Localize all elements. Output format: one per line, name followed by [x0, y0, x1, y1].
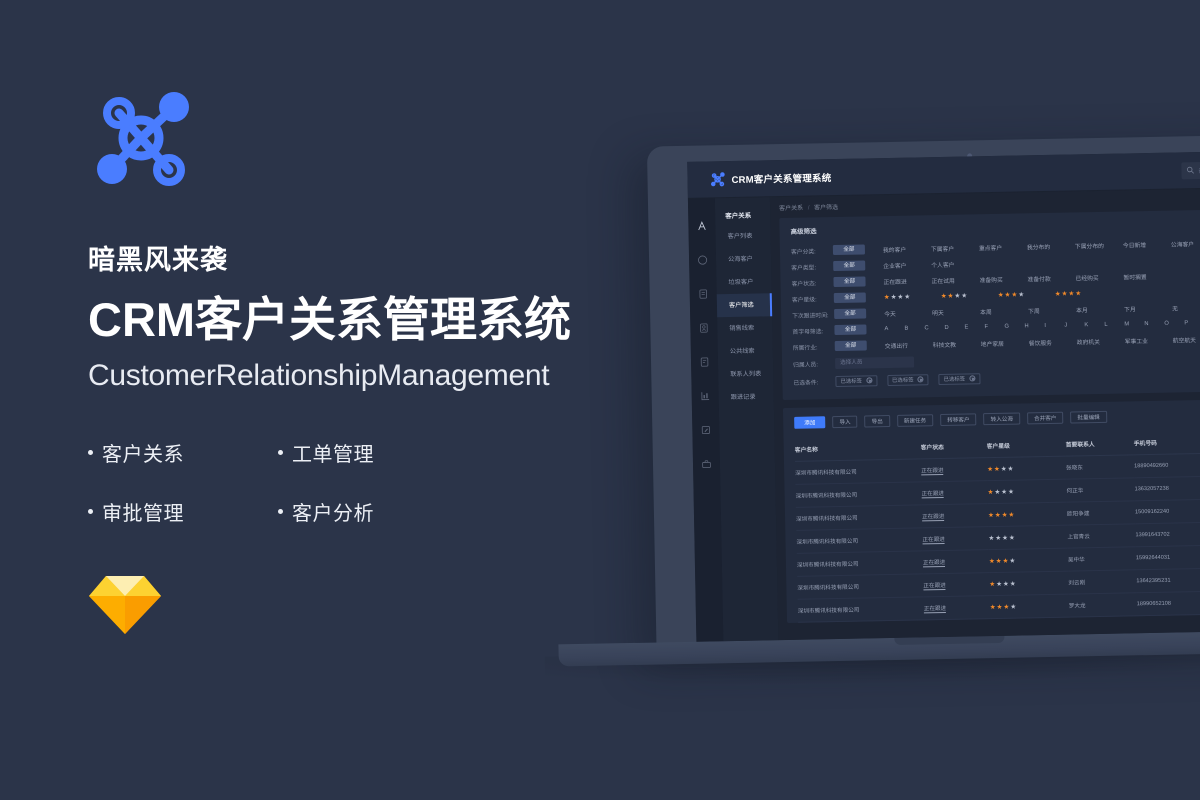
cell-customer-stars: ★★★★	[989, 548, 1068, 573]
filter-option[interactable]: 下属客户	[931, 243, 979, 253]
filter-label: 客户星级:	[792, 294, 834, 304]
chart-icon[interactable]	[700, 390, 711, 401]
document-icon[interactable]	[698, 288, 709, 299]
filter-option[interactable]: 无	[1172, 302, 1200, 312]
cell-contact: 上官青云	[1067, 524, 1135, 548]
customer-icon[interactable]	[698, 322, 709, 333]
filter-chip-all[interactable]: 全部	[834, 308, 866, 319]
filter-option[interactable]: 企业客户	[883, 260, 931, 270]
sidebar-item-public-pool[interactable]: 公海客户	[716, 247, 771, 271]
filter-label: 下次跟进时间:	[792, 310, 834, 320]
cell-phone: 18990652108	[1137, 591, 1200, 616]
add-button[interactable]: 添加	[794, 416, 825, 429]
network-nodes-icon	[709, 171, 725, 187]
cell-contact: 张晓东	[1066, 455, 1134, 479]
table-toolbar: 添加 导入 导出 新建任务 转移客户 转入公海 合并客户 批量编辑	[794, 407, 1200, 429]
filter-label: 首字母筛选:	[792, 326, 834, 336]
filter-option[interactable]: 下月	[1124, 303, 1172, 313]
filter-chip-all[interactable]: 全部	[834, 292, 866, 303]
advanced-filter-panel: 高级筛选 客户分类: 全部 我的客户 下属客户 重点客户 我分布的 下属分布的 …	[779, 208, 1200, 400]
app-brand[interactable]: CRM客户关系管理系统	[687, 169, 831, 188]
sidebar-menu: 客户关系 客户列表 公海客户 垃圾客户 客户筛选 销售线索 公共线索 联系人列表…	[715, 197, 778, 641]
alpha-option[interactable]: I	[1044, 323, 1064, 329]
close-circle-icon[interactable]	[918, 376, 924, 382]
customer-table-card: 添加 导入 导出 新建任务 转移客户 转入公海 合并客户 批量编辑	[783, 398, 1200, 623]
alpha-option[interactable]: B	[904, 325, 924, 331]
filter-panel-title: 高级筛选	[790, 216, 1200, 236]
feature-item: 客户关系	[88, 438, 278, 467]
filter-option[interactable]: 地产家居	[981, 338, 1029, 348]
alpha-option[interactable]: C	[924, 325, 944, 331]
alpha-option[interactable]: M	[1124, 321, 1144, 327]
export-button[interactable]: 导出	[865, 415, 890, 427]
cell-customer-stars: ★★★★	[989, 571, 1068, 596]
feature-label: 审批管理	[102, 497, 184, 526]
selected-tag[interactable]: 已选标签	[887, 374, 929, 386]
bullet-dot-icon	[278, 450, 283, 455]
cell-customer-state: 正在跟进	[922, 527, 988, 551]
alpha-option[interactable]: F	[984, 324, 1004, 330]
selected-tag-label: 已选标签	[892, 376, 914, 384]
filter-option[interactable]: 政府机关	[1077, 336, 1125, 346]
close-circle-icon[interactable]	[969, 375, 975, 381]
column-header-contact[interactable]: 首要联系人	[1065, 432, 1133, 456]
column-header-grade[interactable]: 客户星级	[987, 434, 1066, 458]
cell-contact: 欧阳争建	[1067, 501, 1135, 525]
filter-label: 客户分类:	[791, 246, 833, 256]
new-task-button[interactable]: 新建任务	[897, 414, 934, 427]
cell-customer-state: 正在跟进	[921, 458, 987, 482]
cell-phone: 13642395231	[1136, 568, 1200, 593]
filter-label: 客户状态:	[791, 278, 833, 288]
app-title: CRM客户关系管理系统	[731, 170, 831, 186]
edit-icon[interactable]	[700, 424, 711, 435]
alpha-option[interactable]: P	[1184, 320, 1200, 326]
cell-phone: 18890492660	[1134, 453, 1200, 478]
batch-edit-button[interactable]: 批量编辑	[1070, 411, 1107, 424]
network-nodes-icon	[88, 86, 194, 190]
breadcrumb-parent[interactable]: 客户关系	[779, 206, 803, 212]
filter-option[interactable]: 今日新增	[1123, 239, 1171, 249]
filter-option[interactable]: 航空航天	[1173, 334, 1200, 344]
breadcrumb: 客户关系 / 客户筛选	[779, 193, 1200, 212]
cell-customer-stars: ★★★★	[990, 594, 1069, 619]
cell-customer-state: 正在跟进	[923, 550, 989, 574]
filter-option[interactable]: 正在试用	[931, 275, 979, 285]
sidebar-item-public-leads[interactable]: 公共线索	[718, 339, 773, 363]
table-body: 深圳市腾讯科技有限公司 正在跟进 ★★★★ 张晓东 18890492660 20…	[795, 451, 1200, 622]
selected-tag-label: 已选标签	[943, 375, 965, 383]
alpha-option[interactable]: H	[1024, 323, 1044, 329]
cell-customer-stars: ★★★★	[987, 479, 1066, 504]
filter-option[interactable]: 本周	[980, 306, 1028, 316]
filter-option[interactable]: 准备付款	[1027, 273, 1075, 283]
cell-customer-state: 正在跟进	[924, 596, 990, 620]
cell-customer-stars: ★★★★	[987, 456, 1066, 481]
owner-select-input[interactable]: 选择人员	[835, 356, 914, 369]
filter-chip-all[interactable]: 全部	[834, 324, 866, 335]
cell-customer-name: 深圳市腾讯科技有限公司	[796, 528, 922, 553]
feature-label: 客户关系	[102, 438, 184, 467]
feature-item: 客户分析	[278, 497, 468, 526]
selected-tag[interactable]: 已选标签	[938, 373, 980, 385]
sketch-diamond-icon	[88, 572, 162, 636]
header-right: 请输入客户名称	[1181, 160, 1200, 179]
cell-customer-state: 正在跟进	[922, 504, 988, 528]
filter-star-group-3[interactable]: ★★★★	[998, 290, 1055, 299]
move-to-pool-button[interactable]: 转入公海	[983, 413, 1020, 426]
sidebar-item-customer-list[interactable]: 客户列表	[715, 224, 770, 248]
filter-option[interactable]: 暂时搁置	[1123, 271, 1171, 281]
filter-option[interactable]: 科技文教	[933, 339, 981, 349]
cell-customer-name: 深圳市腾讯科技有限公司	[798, 597, 924, 622]
feature-label: 工单管理	[292, 438, 374, 467]
filter-option[interactable]: 我的客户	[883, 244, 931, 254]
selected-tag[interactable]: 已选标签	[835, 375, 877, 387]
alpha-option[interactable]: J	[1064, 322, 1084, 328]
feature-item: 工单管理	[278, 438, 468, 467]
cell-customer-name: 深圳市腾讯科技有限公司	[795, 459, 921, 484]
filter-label: 客户类型:	[791, 262, 833, 272]
import-button[interactable]: 导入	[832, 416, 857, 428]
cell-customer-name: 深圳市腾讯科技有限公司	[795, 482, 921, 507]
alpha-option[interactable]: N	[1144, 321, 1164, 327]
filter-label: 已选条件:	[793, 377, 835, 387]
bullet-dot-icon	[88, 450, 93, 455]
filter-option[interactable]: 已经购买	[1075, 272, 1123, 282]
cell-customer-state: 正在跟进	[923, 573, 989, 597]
alpha-option[interactable]: O	[1164, 320, 1184, 326]
search-icon	[1186, 166, 1194, 174]
bullet-dot-icon	[88, 509, 93, 514]
filter-option[interactable]: 明天	[932, 307, 980, 317]
cell-contact: 何正华	[1066, 478, 1134, 502]
cell-customer-stars: ★★★★	[988, 502, 1067, 527]
sidebar-item-junk-customers[interactable]: 垃圾客户	[716, 270, 771, 294]
filter-chip-all[interactable]: 全部	[833, 244, 865, 255]
sidebar-title: 客户关系	[715, 207, 770, 225]
alpha-option[interactable]: L	[1104, 321, 1124, 327]
filter-option[interactable]: 今天	[884, 308, 932, 318]
filter-option[interactable]: 准备购买	[979, 274, 1027, 284]
cell-phone: 15992644031	[1136, 545, 1200, 570]
filter-option[interactable]: 正在跟进	[883, 276, 931, 286]
cell-contact: 刘云刚	[1068, 570, 1136, 594]
filter-label: 所属行业:	[793, 342, 835, 352]
filter-option[interactable]: 交通出行	[885, 340, 933, 350]
feature-label: 客户分析	[292, 497, 374, 526]
compass-icon[interactable]	[697, 254, 708, 265]
filter-chip-all[interactable]: 全部	[833, 276, 865, 287]
bullet-dot-icon	[278, 509, 283, 514]
customer-table: 客户名称 客户状态 客户星级 首要联系人 手机号码 最后跟进	[795, 429, 1200, 623]
breadcrumb-current: 客户筛选	[814, 205, 838, 211]
app-body: 客户关系 客户列表 公海客户 垃圾客户 客户筛选 销售线索 公共线索 联系人列表…	[688, 187, 1200, 641]
cell-phone: 13991643702	[1135, 522, 1200, 547]
column-header-state[interactable]: 客户状态	[921, 435, 987, 459]
filter-star-group-4[interactable]: ★★★★	[1055, 289, 1112, 298]
cell-customer-name: 深圳市腾讯科技有限公司	[797, 574, 923, 599]
alpha-option[interactable]: E	[964, 324, 984, 330]
filter-option[interactable]: 下属分布的	[1075, 240, 1123, 250]
breadcrumb-separator: /	[808, 206, 810, 212]
filter-star-group-2[interactable]: ★★★★	[941, 291, 998, 300]
cell-customer-name: 深圳市腾讯科技有限公司	[797, 551, 923, 576]
briefcase-icon[interactable]	[701, 458, 712, 469]
filter-option[interactable]: 重点客户	[979, 242, 1027, 252]
filter-label: 归属人员:	[793, 359, 835, 369]
filter-chip-all[interactable]: 全部	[833, 260, 865, 271]
cell-contact: 罗大龙	[1069, 593, 1137, 617]
alpha-option[interactable]: D	[944, 325, 964, 331]
filter-option[interactable]: 餐饮服务	[1029, 337, 1077, 347]
filter-option[interactable]: 我分布的	[1027, 241, 1075, 251]
cell-contact: 吴中华	[1068, 547, 1136, 571]
cell-phone: 13632057238	[1134, 476, 1200, 501]
cell-customer-state: 正在跟进	[921, 481, 987, 505]
filter-option[interactable]: 公海客户	[1171, 238, 1200, 248]
search-input[interactable]: 请输入客户名称	[1181, 160, 1200, 179]
selected-tag-label: 已选标签	[840, 377, 862, 385]
sidebar-item-follow-records[interactable]: 跟进记录	[719, 385, 774, 409]
column-header-phone[interactable]: 手机号码	[1133, 431, 1200, 455]
laptop-mockup: CRM客户关系管理系统 请输入客户名称	[534, 103, 1200, 716]
filter-option[interactable]: 军事工业	[1125, 335, 1173, 345]
alpha-option[interactable]: G	[1004, 323, 1024, 329]
filter-option[interactable]: 个人客户	[931, 259, 979, 269]
sidebar-item-customer-filter[interactable]: 客户筛选	[717, 293, 772, 317]
cell-customer-stars: ★★★★	[988, 525, 1067, 550]
sidebar-item-sales-leads[interactable]: 销售线索	[717, 316, 772, 340]
sidebar-item-contact-list[interactable]: 联系人列表	[718, 362, 773, 386]
poster-canvas: 暗黑风来袭 CRM客户关系管理系统 CustomerRelationshipMa…	[0, 0, 1200, 800]
main-content: 客户关系 / 客户筛选 高级筛选 客户分类: 全部 我的客户 下属客户	[770, 187, 1200, 640]
merge-customer-button[interactable]: 合并客户	[1027, 412, 1064, 425]
app-screen: CRM客户关系管理系统 请输入客户名称	[687, 150, 1200, 641]
transfer-customer-button[interactable]: 转移客户	[940, 413, 977, 426]
filter-option[interactable]: 本月	[1076, 304, 1124, 314]
filter-option[interactable]: 下周	[1028, 305, 1076, 315]
cell-customer-name: 深圳市腾讯科技有限公司	[796, 505, 922, 530]
alpha-option[interactable]: K	[1084, 322, 1104, 328]
home-icon[interactable]	[696, 220, 707, 231]
cell-phone: 15009162240	[1135, 499, 1200, 524]
close-circle-icon[interactable]	[866, 377, 872, 383]
feature-item: 审批管理	[88, 497, 278, 526]
filter-star-group-1[interactable]: ★★★★	[884, 292, 941, 301]
filter-chip-all[interactable]: 全部	[835, 340, 867, 351]
order-icon[interactable]	[699, 356, 710, 367]
alpha-option[interactable]: A	[884, 326, 904, 332]
column-header-name[interactable]: 客户名称	[795, 436, 921, 461]
